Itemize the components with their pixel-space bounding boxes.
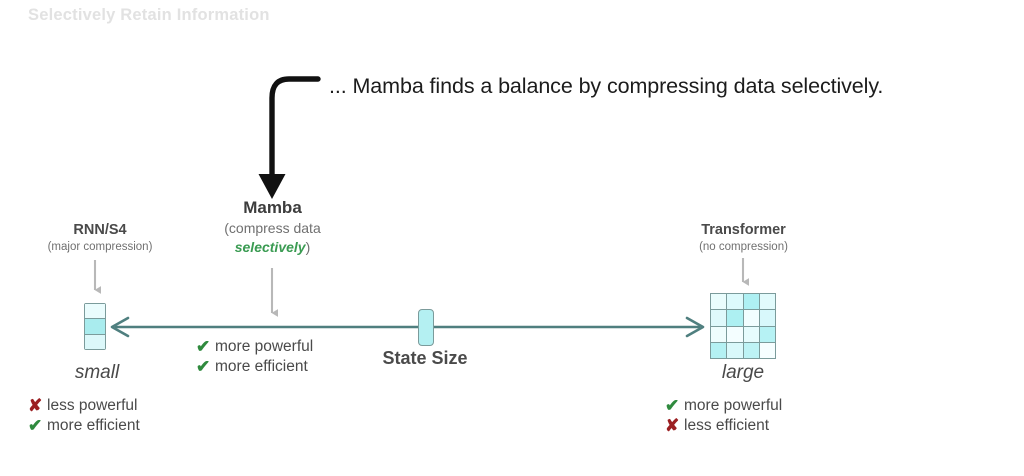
matrix-cell (711, 310, 726, 325)
bullet-row: ✔more efficient (196, 358, 313, 375)
cross-icon: ✘ (665, 417, 684, 434)
matrix-cell (744, 343, 759, 358)
bullets-mamba: ✔more powerful✔more efficient (196, 338, 313, 378)
bullet-label: less powerful (47, 398, 137, 414)
slide-canvas: Selectively Retain Information ... Mamba… (0, 0, 1024, 476)
matrix-cell (711, 294, 726, 309)
label-transformer: Transformer (no compression) (651, 222, 836, 255)
cross-icon: ✘ (28, 397, 47, 414)
axis-left-label: small (37, 362, 157, 384)
label-mamba: Mamba (compress data selectively) (180, 198, 365, 255)
mamba-subtitle-close: ) (306, 239, 311, 255)
axis-title: State Size (345, 348, 505, 369)
check-icon: ✔ (196, 338, 215, 355)
state-size-axis (112, 318, 703, 336)
bullet-label: less efficient (684, 418, 769, 434)
state-matrix-large (710, 293, 776, 359)
mamba-title: Mamba (180, 198, 365, 218)
bullets-rnn: ✘less powerful✔more efficient (28, 397, 140, 437)
check-icon: ✔ (196, 358, 215, 375)
check-icon: ✔ (665, 397, 684, 414)
curved-down-arrow-icon (259, 79, 319, 199)
callout-text: ... Mamba finds a balance by compressing… (329, 74, 883, 99)
matrix-cell (760, 343, 775, 358)
axis-right-label: large (683, 362, 803, 384)
matrix-cell (711, 343, 726, 358)
matrix-cell (744, 294, 759, 309)
arrow-right-icon (687, 318, 703, 336)
matrix-cell (760, 294, 775, 309)
check-icon: ✔ (28, 417, 47, 434)
matrix-cell (760, 327, 775, 342)
transformer-title: Transformer (651, 222, 836, 239)
state-marker-mamba (418, 309, 434, 346)
bullet-row: ✔more powerful (665, 397, 782, 414)
matrix-cell (744, 327, 759, 342)
matrix-cell (85, 304, 105, 318)
mamba-subtitle-line2: selectively) (180, 239, 365, 256)
bullets-transformer: ✔more powerful✘less efficient (665, 397, 782, 437)
matrix-cell (711, 327, 726, 342)
mamba-subtitle-line1: (compress data (180, 220, 365, 237)
mamba-emphasis: selectively (235, 239, 306, 255)
state-matrix-small (84, 303, 106, 350)
matrix-cell (760, 310, 775, 325)
matrix-cell (727, 343, 742, 358)
matrix-cell (85, 319, 105, 333)
matrix-cell (744, 310, 759, 325)
matrix-cell (727, 327, 742, 342)
bullet-label: more powerful (215, 339, 313, 355)
bullet-row: ✔more powerful (196, 338, 313, 355)
arrow-left-icon (112, 318, 128, 336)
label-rnn-s4: RNN/S4 (major compression) (0, 222, 200, 255)
bullet-label: more efficient (47, 418, 140, 434)
bullet-row: ✘less efficient (665, 417, 782, 434)
bullet-label: more efficient (215, 359, 308, 375)
matrix-cell (727, 310, 742, 325)
transformer-subtitle: (no compression) (651, 241, 836, 255)
matrix-cell (727, 294, 742, 309)
matrix-cell (85, 335, 105, 349)
bullet-row: ✔more efficient (28, 417, 140, 434)
rnn-title: RNN/S4 (0, 222, 200, 239)
page-title: Selectively Retain Information (28, 6, 270, 25)
bullet-label: more powerful (684, 398, 782, 414)
rnn-subtitle: (major compression) (0, 241, 200, 255)
bullet-row: ✘less powerful (28, 397, 140, 414)
